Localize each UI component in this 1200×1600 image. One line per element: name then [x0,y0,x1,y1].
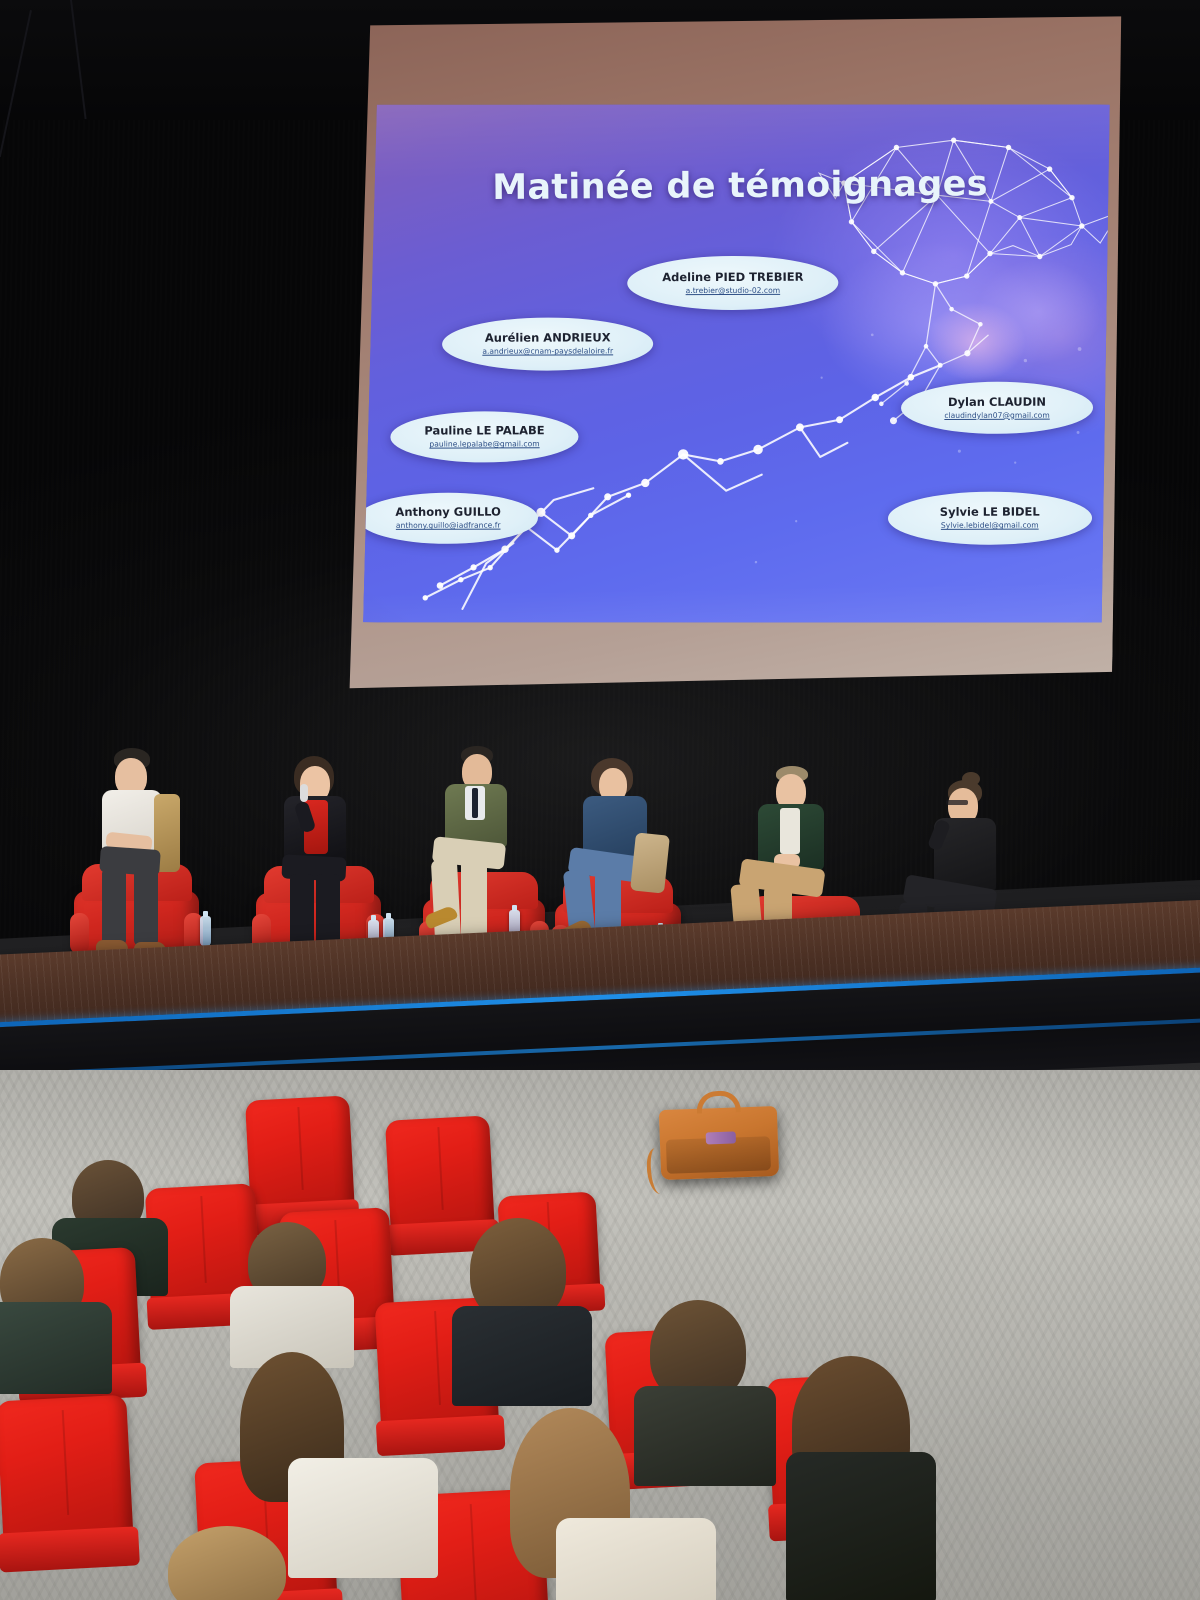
water-bottle [200,916,211,946]
audience-shoulders [0,1302,112,1394]
seat-crease [437,1127,443,1210]
necktie [472,788,478,818]
panelist-1 [70,748,220,963]
seat-cushion [376,1415,505,1456]
audience-shoulders [634,1386,776,1486]
screen-surface: Matinée de témoignages Adeline PIED TREB… [363,91,1111,636]
leg [316,874,340,948]
audience-shoulders [556,1518,716,1600]
handheld-microphone [300,784,308,802]
audience-shoulders [452,1306,592,1406]
audience-shoulders [288,1458,438,1578]
audience-seat[interactable] [0,1395,134,1552]
briefcase [659,1106,779,1180]
seat-cushion [0,1526,140,1572]
seat-crease [434,1311,441,1405]
auditorium-photo: Matinée de témoignages Adeline PIED TREB… [0,0,1200,1600]
seat-crease [62,1410,69,1515]
leg [461,860,487,942]
audience-seat[interactable] [385,1115,495,1238]
seat-crease [200,1196,207,1283]
leg [134,868,158,946]
audience-seat[interactable] [245,1095,355,1218]
slide-sheen [363,91,1111,636]
panelist-2 [250,758,400,963]
projection-screen: Matinée de témoignages Adeline PIED TREB… [346,1,1125,705]
presentation-slide: Matinée de témoignages Adeline PIED TREB… [363,91,1111,636]
audience-shoulders [786,1452,936,1600]
briefcase-tag [706,1131,736,1144]
person-body [92,748,202,963]
seat-crease [470,1504,477,1600]
leg [431,859,461,942]
chair-arm-left [70,913,89,955]
person-body [276,758,382,963]
coat-on-armrest [630,832,670,893]
leg [102,868,126,946]
seat-crease [297,1107,303,1190]
glasses [946,800,968,805]
leg [290,874,314,948]
tshirt [780,808,800,854]
